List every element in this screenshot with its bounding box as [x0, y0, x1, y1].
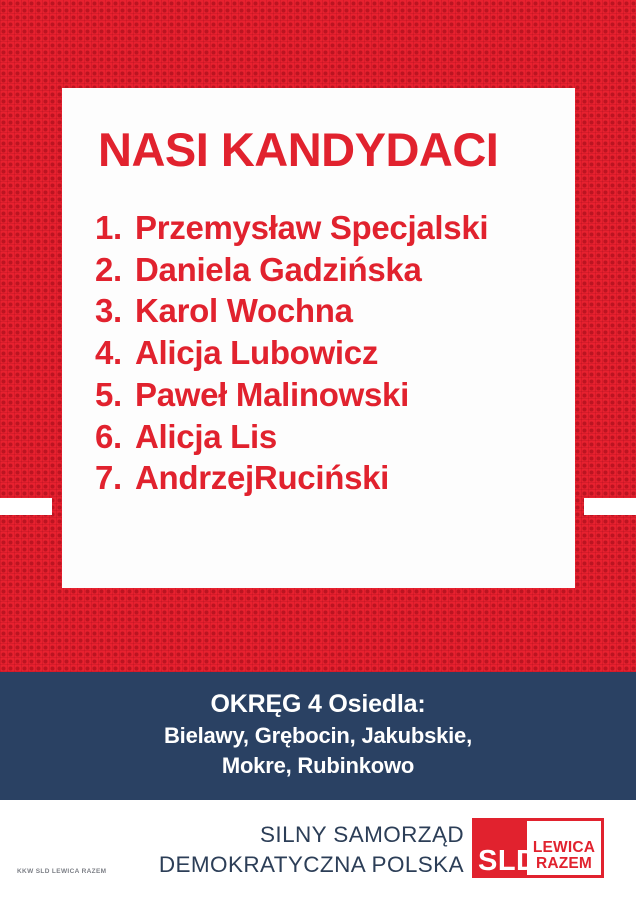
candidate-name: Paweł Malinowski [135, 374, 409, 416]
slogan-line-2: DEMOKRATYCZNA POLSKA [159, 850, 464, 880]
candidate-number: 2. [95, 249, 135, 291]
candidate-name: Daniela Gadzińska [135, 249, 422, 291]
candidate-name: AndrzejRuciński [135, 457, 389, 499]
candidate-number: 5. [95, 374, 135, 416]
district-band: OKRĘG 4 Osiedla: Bielawy, Grębocin, Jaku… [0, 672, 636, 800]
district-neighborhoods-line-1: Bielawy, Grębocin, Jakubskie, [0, 721, 636, 751]
candidate-number: 4. [95, 332, 135, 374]
candidates-card: NASI KANDYDACI 1. Przemysław Specjalski … [62, 88, 575, 588]
candidate-number: 3. [95, 290, 135, 332]
lewica-text: LEWICA [527, 840, 601, 857]
candidate-name: Przemysław Specjalski [135, 207, 488, 249]
candidate-number: 7. [95, 457, 135, 499]
campaign-poster: NASI KANDYDACI 1. Przemysław Specjalski … [0, 0, 636, 900]
district-neighborhoods-line-2: Mokre, Rubinkowo [0, 751, 636, 781]
list-item: 6. Alicja Lis [95, 416, 547, 458]
candidate-list: 1. Przemysław Specjalski 2. Daniela Gadz… [95, 207, 547, 499]
right-edge-notch [584, 498, 636, 515]
candidate-number: 6. [95, 416, 135, 458]
razem-text: RAZEM [527, 856, 601, 873]
district-heading: OKRĘG 4 Osiedla: [0, 688, 636, 721]
candidate-name: Alicja Lis [135, 416, 277, 458]
left-edge-notch [0, 498, 52, 515]
candidate-name: Karol Wochna [135, 290, 353, 332]
list-item: 3. Karol Wochna [95, 290, 547, 332]
slogan-line-1: SILNY SAMORZĄD [159, 820, 464, 850]
sld-logo: SLD LEWICA RAZEM [472, 818, 604, 878]
list-item: 1. Przemysław Specjalski [95, 207, 547, 249]
list-item: 5. Paweł Malinowski [95, 374, 547, 416]
lewica-razem-box: LEWICA RAZEM [527, 821, 601, 875]
candidate-number: 1. [95, 207, 135, 249]
page-title: NASI KANDYDACI [98, 126, 547, 173]
list-item: 7. AndrzejRuciński [95, 457, 547, 499]
campaign-slogan: SILNY SAMORZĄD DEMOKRATYCZNA POLSKA [159, 820, 464, 880]
candidate-name: Alicja Lubowicz [135, 332, 378, 374]
lewica-razem-text: LEWICA RAZEM [527, 840, 601, 873]
electoral-committee-label: KKW SLD LEWICA RAZEM [17, 868, 106, 875]
list-item: 4. Alicja Lubowicz [95, 332, 547, 374]
list-item: 2. Daniela Gadzińska [95, 249, 547, 291]
